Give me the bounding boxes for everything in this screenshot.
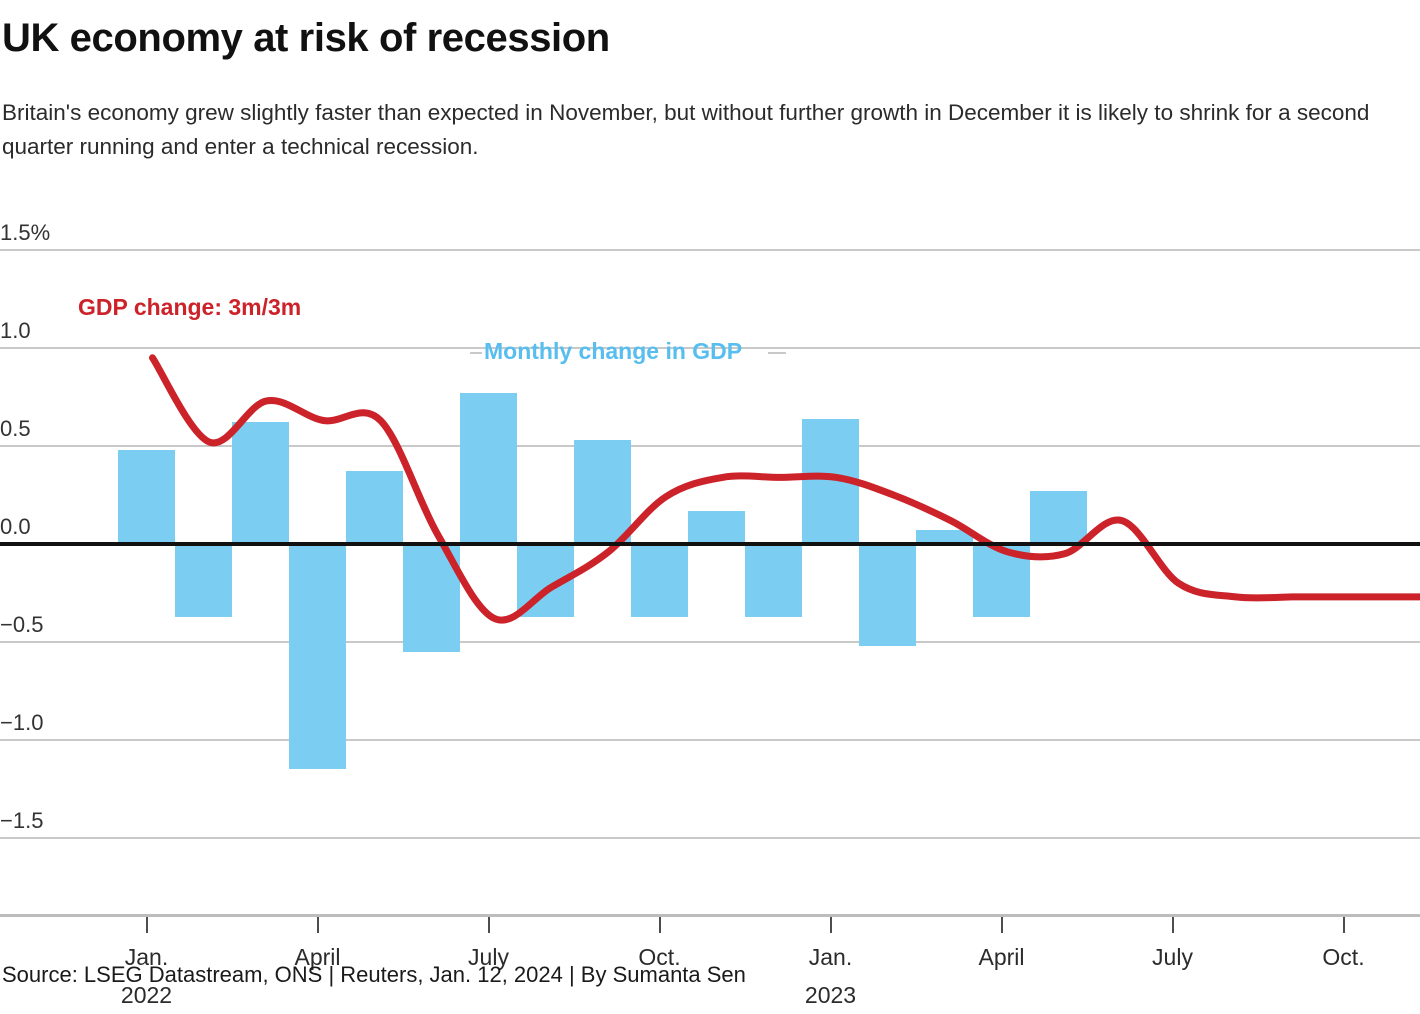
page-title: UK economy at risk of recession — [2, 16, 610, 61]
x-axis-tick-label: Jan. — [809, 938, 852, 976]
legend-connector — [768, 352, 786, 354]
chart-plot-area: 1.5%1.00.50.0−0.5−1.0−1.5Jan.2022AprilJu… — [0, 215, 1420, 935]
page-subtitle: Britain's economy grew slightly faster t… — [2, 96, 1420, 164]
legend-label-gdp-3m3m: GDP change: 3m/3m — [78, 294, 301, 321]
legend-connector — [470, 352, 482, 354]
gdp-3m3m-line-path — [153, 358, 1420, 620]
x-axis-tick-label: April — [978, 938, 1024, 976]
x-axis-tick-label: Oct. — [1322, 938, 1364, 976]
x-axis-year-label: 2023 — [805, 976, 856, 1014]
x-axis-tick-label: July — [1152, 938, 1193, 976]
source-footer: Source: LSEG Datastream, ONS | Reuters, … — [2, 962, 746, 988]
zero-axis-line — [0, 542, 1420, 546]
gdp-3m3m-line-series — [0, 215, 1420, 935]
legend-label-monthly-change: Monthly change in GDP — [484, 338, 742, 365]
